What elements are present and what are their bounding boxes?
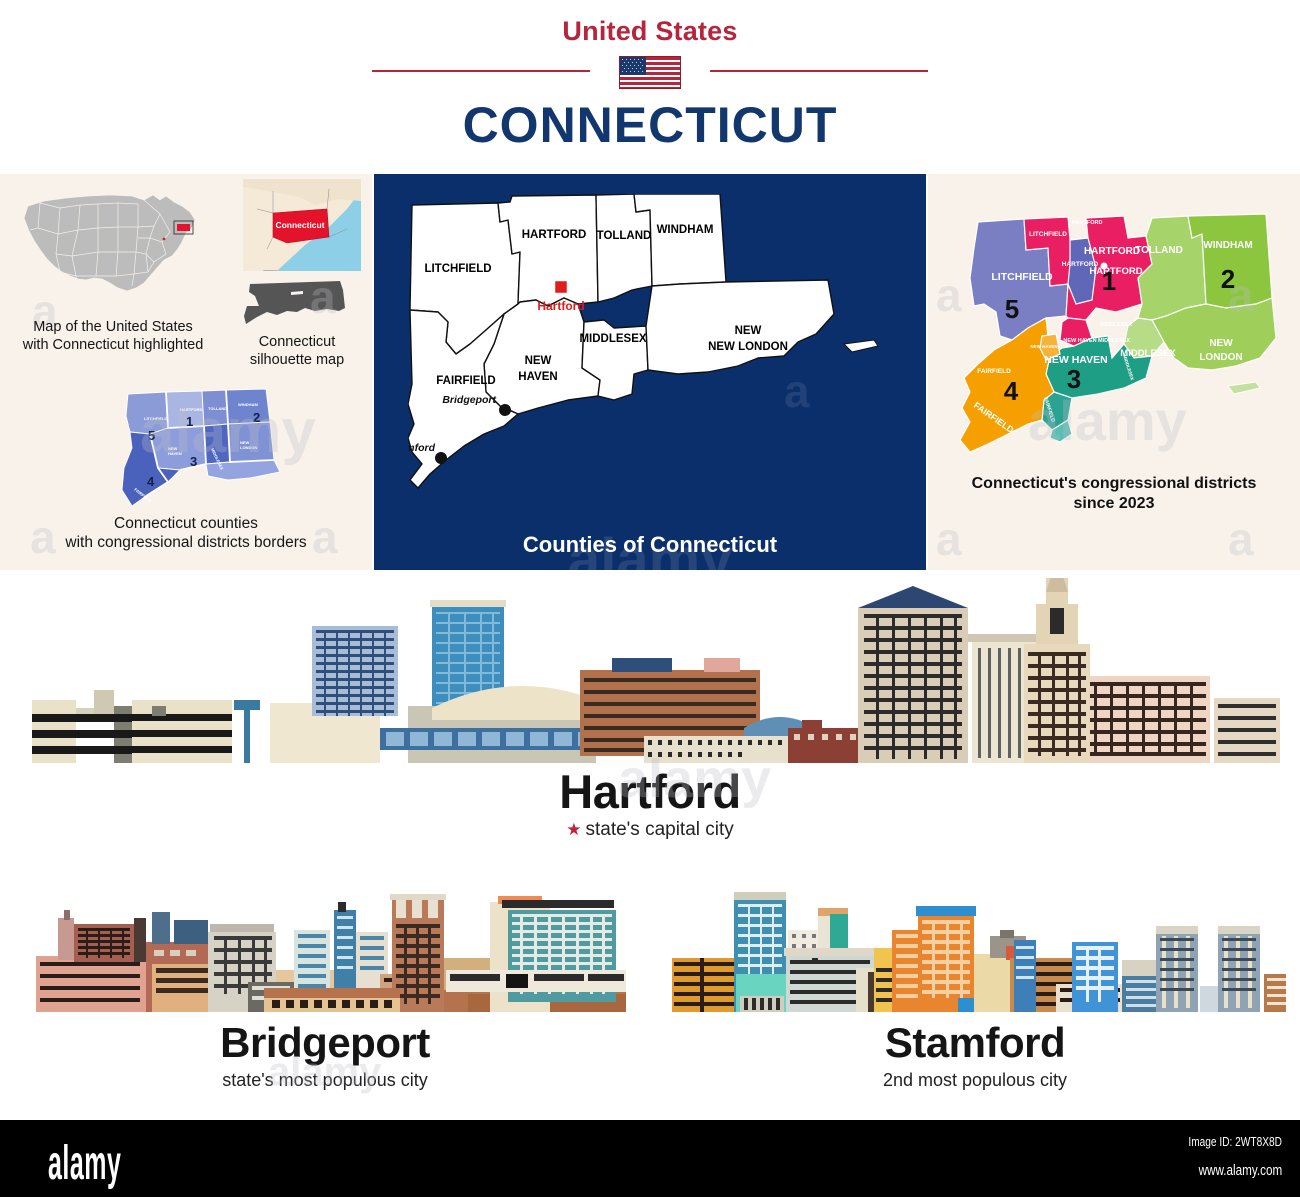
county-label-newlondon-1: NEW [735, 325, 762, 337]
flag-canton [620, 57, 646, 75]
district-county-newhaven-tiny: NEW HAVEN [1030, 344, 1057, 349]
image-id-text: Image ID: 2WT8X8D [1188, 1134, 1282, 1149]
mini-county-tolland: TOLLAND [208, 406, 227, 411]
mini-county-newhaven2: HAVEN [168, 451, 182, 456]
stamford-skyline-block: Stamford 2nd most populous city [650, 862, 1300, 1117]
district-number-5: 5 [1005, 294, 1019, 324]
bridgeport-city-name: Bridgeport [0, 1019, 650, 1067]
district-county-tolland: TOLLAND [1135, 245, 1183, 256]
districts-caption: Connecticut's congressional districts si… [944, 474, 1284, 513]
county-label-middlesex: MIDDLESEX [579, 333, 646, 345]
mini-district-2: 2 [253, 410, 260, 425]
connecticut-counties-with-district-borders-mini: LITCHFIELD HARTFORD TOLLAND WINDHAM NEW … [110, 386, 290, 514]
counties-mini-caption: Connecticut counties with congressional … [10, 515, 362, 553]
hartford-skyline-block: Hartford ★state's capital city alamy [0, 570, 1300, 860]
mini-district-4: 4 [147, 474, 155, 489]
connecticut-inset-map: Connecticut [243, 179, 361, 271]
county-label-fairfield: FAIRFIELD [436, 375, 495, 387]
mini-district-3: 3 [190, 454, 197, 469]
state-title: CONNECTICUT [0, 96, 1300, 154]
city-label-stamford: Stamford [408, 442, 436, 454]
county-label-tolland: TOLLAND [597, 230, 652, 242]
mini-county-windham: WINDHAM [238, 402, 258, 407]
capital-city-label-hartford: Hartford [537, 299, 584, 313]
city-label-bridgeport: Bridgeport [442, 394, 496, 406]
city-dot-bridgeport [499, 404, 511, 416]
bridgeport-city-subtitle: state's most populous city [0, 1070, 650, 1091]
silhouette-caption: Connecticut silhouette map [222, 334, 372, 369]
us-map-caption: Map of the United States with Connecticu… [8, 319, 218, 354]
district-county-newlondon-2: LONDON [1199, 352, 1242, 363]
us-map-with-connecticut-highlighted [14, 184, 204, 312]
panel-counties-of-connecticut: LITCHFIELD HARTFORD TOLLAND WINDHAM NEW … [374, 174, 926, 570]
district-county-hartford-top: HARTFORD [1072, 220, 1103, 226]
district-county-litchfield-small: LITCHFIELD [1029, 231, 1067, 238]
poster-header: United States [0, 0, 1300, 172]
bridgeport-skyline-block: Bridgeport state's most populous city al… [0, 862, 650, 1117]
mini-county-newlondon2: LONDON [240, 445, 257, 450]
district-county-hartford: HARTFORD [1084, 246, 1140, 257]
county-label-newhaven-1: NEW [525, 355, 552, 367]
panel-left-overview: Connecticut [0, 174, 372, 570]
connecticut-silhouette-map [243, 278, 349, 332]
watermark-a: a [936, 512, 962, 566]
alamy-logo: alamy [48, 1136, 121, 1191]
counties-of-connecticut-map: LITCHFIELD HARTFORD TOLLAND WINDHAM NEW … [408, 194, 898, 534]
hartford-skyline-illustration [20, 578, 1282, 763]
district-county-windham: WINDHAM [1203, 240, 1252, 251]
inset-state-label: Connecticut [275, 220, 324, 230]
mini-county-hartford: HARTFORD [180, 407, 203, 412]
connecticut-congressional-districts-map: LITCHFIELD LITCHFIELD HARTFORD HARTFORD … [956, 208, 1278, 460]
header-rule-left [372, 70, 590, 72]
alamy-footer-bar: alamy Image ID: 2WT8X8D www.alamy.com [0, 1120, 1300, 1197]
stamford-city-subtitle: 2nd most populous city [650, 1070, 1300, 1091]
mini-district-5: 5 [148, 428, 155, 443]
county-label-newhaven-2: HAVEN [518, 371, 557, 383]
district-county-fairfield-small: FAIRFIELD [977, 368, 1011, 375]
mini-district-1: 1 [186, 414, 193, 429]
middle-panel-title: Counties of Connecticut [374, 532, 926, 558]
capital-marker [554, 280, 568, 294]
poster-root: United States [0, 0, 1300, 1197]
district-number-3: 3 [1067, 364, 1081, 394]
county-label-newlondon-2: NEW LONDON [708, 341, 788, 353]
stamford-city-name: Stamford [650, 1019, 1300, 1067]
bridgeport-skyline-illustration [28, 870, 628, 1012]
star-icon: ★ [566, 820, 581, 839]
hartford-city-name: Hartford [0, 764, 1300, 819]
city-dot-stamford [435, 452, 447, 464]
district-number-4: 4 [1004, 376, 1019, 406]
hartford-city-subtitle: ★state's capital city [0, 819, 1300, 841]
watermark-a: a [1228, 512, 1254, 566]
header-rule-right [710, 70, 928, 72]
mini-county-litchfield: LITCHFIELD [144, 416, 167, 421]
stamford-skyline-illustration [660, 870, 1286, 1012]
county-label-litchfield: LITCHFIELD [424, 263, 491, 275]
district-number-2: 2 [1221, 264, 1235, 294]
country-title: United States [0, 16, 1300, 47]
county-label-windham: WINDHAM [657, 224, 714, 236]
maps-row: Connecticut [0, 174, 1300, 570]
district-county-newlondon-1: NEW [1209, 338, 1233, 349]
alamy-url-text: www.alamy.com [1198, 1162, 1282, 1179]
district-county-litchfield: LITCHFIELD [991, 271, 1053, 283]
district-county-middlesex-s1: MIDDLESEX [1100, 322, 1132, 328]
county-label-hartford: HARTFORD [522, 229, 587, 241]
us-flag-icon [619, 56, 681, 89]
district-number-1: 1 [1102, 266, 1116, 296]
district-county-newhaven-small: NEW HAVEN [1063, 338, 1096, 344]
district-county-middlesex-s2: MIDDLESEX [1098, 338, 1130, 344]
panel-congressional-districts: LITCHFIELD LITCHFIELD HARTFORD HARTFORD … [928, 174, 1300, 570]
